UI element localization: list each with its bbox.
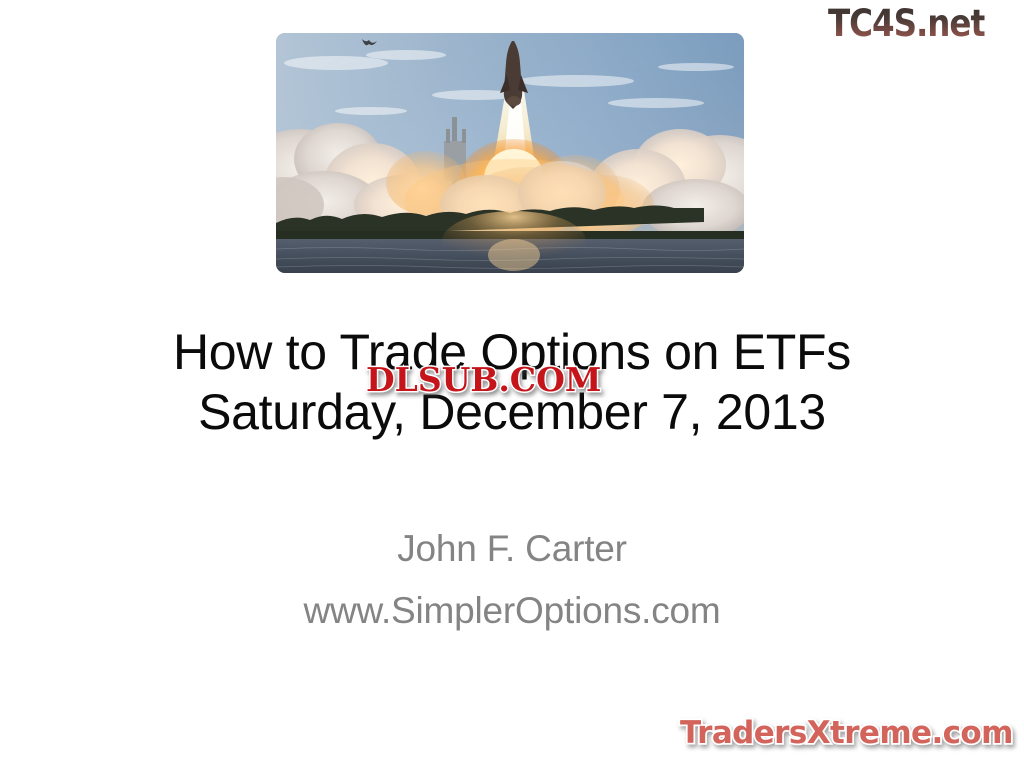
- shuttle-launch-illustration: [276, 33, 744, 273]
- presenter-website: www.SimplerOptions.com: [0, 580, 1024, 642]
- slide-subtitle: John F. Carter www.SimplerOptions.com: [0, 518, 1024, 642]
- watermark-dlsub: DLSUB.COM: [366, 360, 601, 399]
- watermark-tradersxtreme: TradersXtreme.com: [680, 715, 1013, 751]
- shuttle-launch-image: [276, 33, 744, 273]
- watermark-tc4s: TC4S.net: [828, 2, 985, 45]
- presentation-title-slide: How to Trade Options on ETFs Saturday, D…: [0, 0, 1024, 768]
- presenter-name: John F. Carter: [0, 518, 1024, 580]
